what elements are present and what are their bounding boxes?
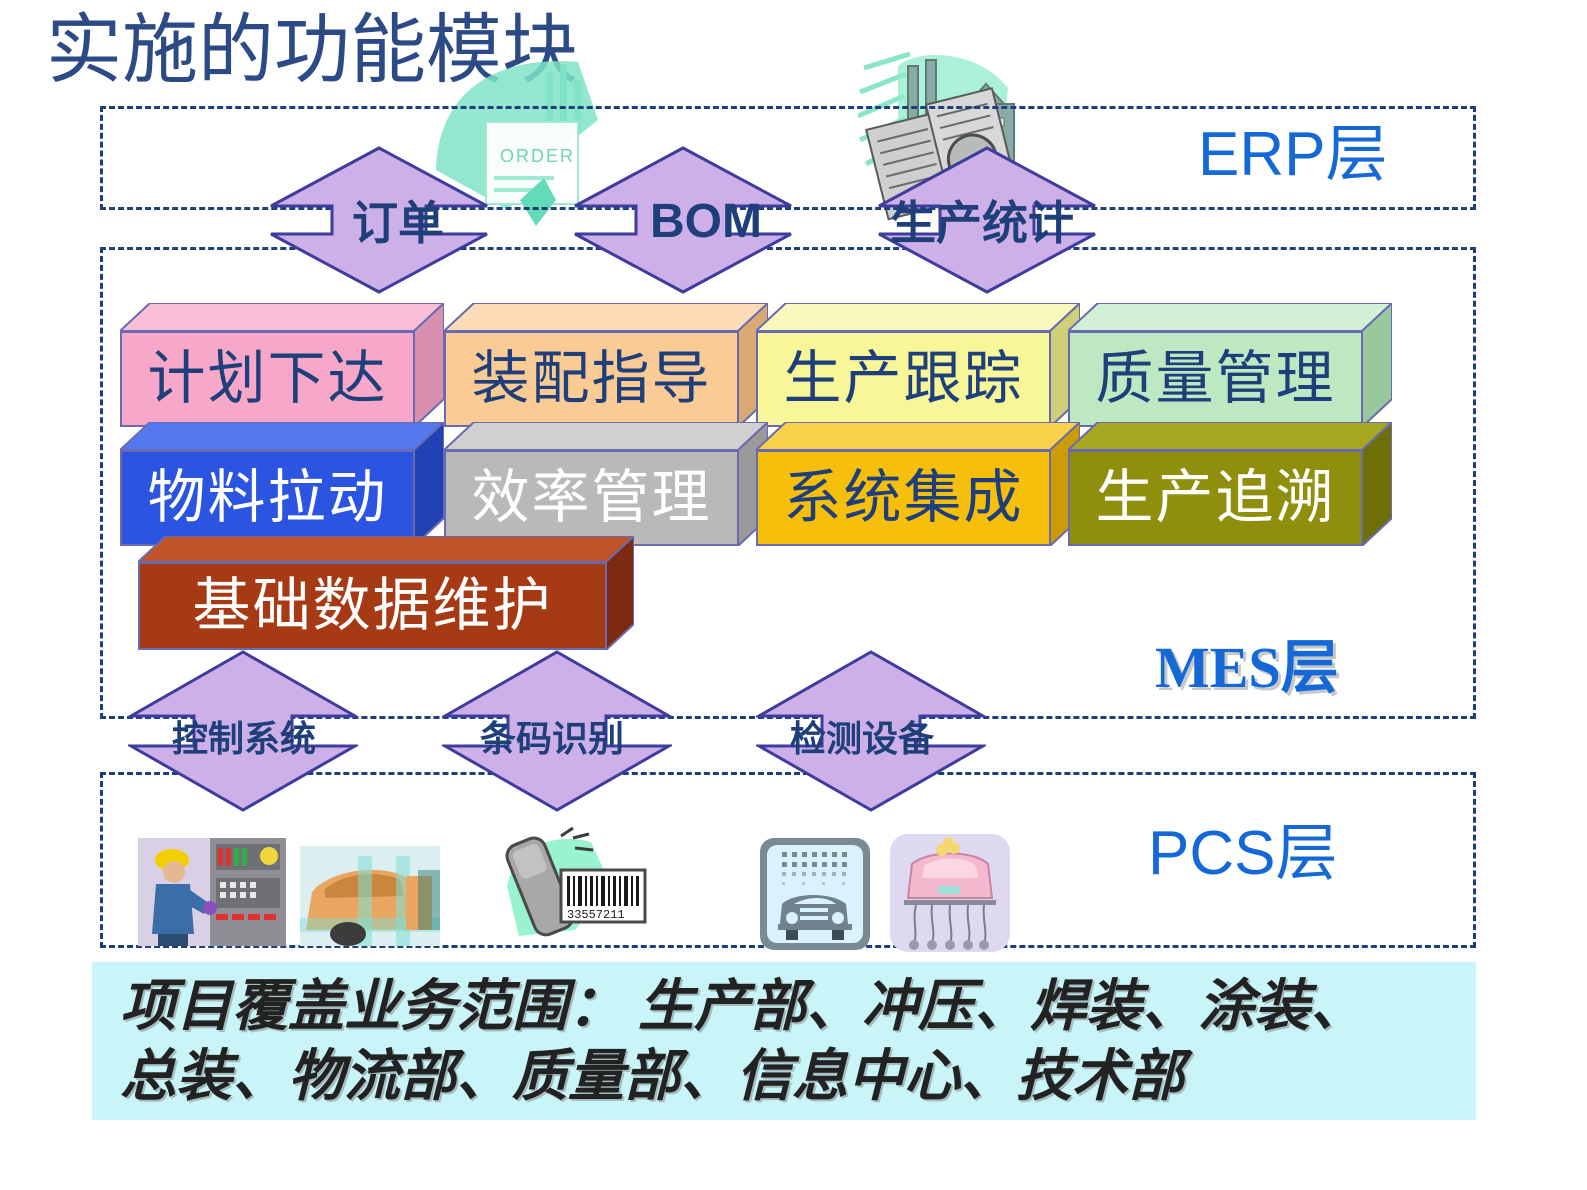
module-label: 物料拉动	[147, 468, 387, 528]
flow-label-barcode-recognition: 条码识别	[480, 718, 624, 760]
scope-line-2: 总装、物流部、质量部、信息中心、技术部	[120, 1042, 1448, 1112]
barcode-scanner-icon: 33557211	[495, 826, 655, 953]
vehicle-body-icon	[300, 846, 440, 951]
scope-line-1: 项目覆盖业务范围： 生产部、冲压、焊装、涂装、	[120, 972, 1448, 1042]
flow-label-control-system: 控制系统	[172, 718, 316, 760]
flow-label-production-stats: 生产统计	[890, 198, 1074, 250]
project-scope-banner: 项目覆盖业务范围： 生产部、冲压、焊装、涂装、 总装、物流部、质量部、信息中心、…	[92, 962, 1476, 1120]
module-box[interactable]: 生产跟踪	[756, 303, 1080, 427]
module-box[interactable]: 质量管理	[1068, 303, 1392, 427]
module-label: 效率管理	[471, 468, 711, 528]
module-label: 装配指导	[471, 349, 711, 409]
assembly-line-car-icon	[890, 834, 1010, 957]
module-label: 基础数据维护	[192, 576, 552, 636]
erp-layer-label: ERP层	[1198, 119, 1387, 191]
module-label: 计划下达	[147, 349, 387, 409]
module-box[interactable]: 基础数据维护	[138, 536, 634, 650]
module-box[interactable]: 计划下达	[120, 303, 444, 427]
flow-label-order: 订单	[352, 198, 444, 250]
module-label: 生产跟踪	[783, 349, 1023, 409]
module-box[interactable]: 生产追溯	[1068, 422, 1392, 546]
mes-layer-label: MES层	[1155, 634, 1339, 702]
module-box[interactable]: 装配指导	[444, 303, 768, 427]
module-box[interactable]: 系统集成	[756, 422, 1080, 546]
module-label: 质量管理	[1095, 349, 1335, 409]
flow-label-bom: BOM	[650, 196, 762, 248]
pcs-layer-label: PCS层	[1148, 818, 1337, 890]
flow-label-inspection-equipment: 检测设备	[790, 718, 934, 760]
module-box[interactable]: 效率管理	[444, 422, 768, 546]
module-label: 生产追溯	[1095, 468, 1335, 528]
module-label: 系统集成	[783, 468, 1023, 528]
diagram-canvas: 实施的功能模块 ORDER	[0, 0, 1587, 1190]
barcode-number: 33557211	[567, 908, 625, 922]
control-panel-operator-icon	[138, 838, 286, 951]
module-box[interactable]: 物料拉动	[120, 422, 444, 546]
paint-booth-car-icon	[760, 838, 870, 955]
